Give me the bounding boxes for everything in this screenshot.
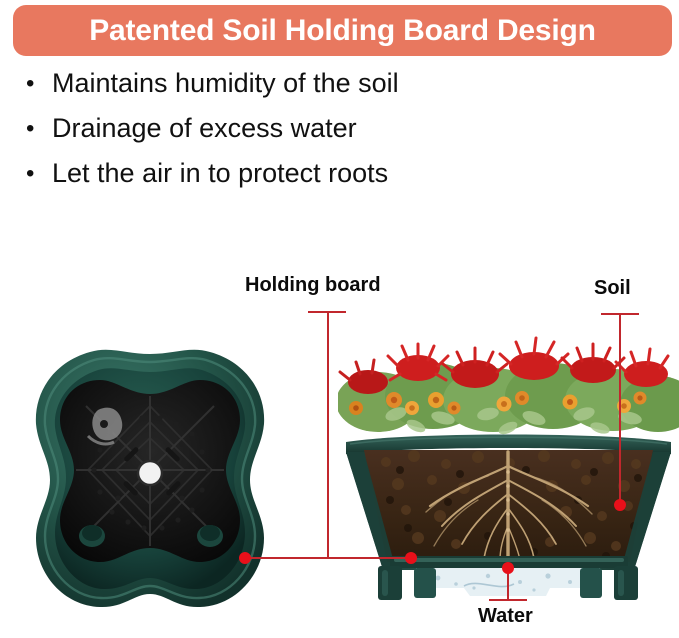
bullet-icon: • <box>26 162 40 186</box>
board-post-left-inner <box>82 525 102 541</box>
leader-holding-board-stem <box>327 311 329 558</box>
infographic-page: Patented Soil Holding Board Design • Mai… <box>0 0 679 638</box>
bullet-icon: • <box>26 117 40 141</box>
board-post-right-inner <box>200 525 220 541</box>
bullet-icon: • <box>26 72 40 96</box>
pot-foot-outer-left <box>378 566 402 600</box>
pot-foot-outer-right-highlight <box>618 570 624 596</box>
list-item: • Drainage of excess water <box>26 115 646 160</box>
leader-water-tbar <box>489 599 527 601</box>
list-item-label: Drainage of excess water <box>52 115 357 142</box>
header-banner: Patented Soil Holding Board Design <box>13 5 672 56</box>
leader-dot-soil <box>614 499 626 511</box>
callout-label-water: Water <box>478 605 533 628</box>
leader-dot-holding-board-left <box>239 552 251 564</box>
callout-label-soil: Soil <box>594 277 631 300</box>
flower-canopy <box>338 338 679 437</box>
list-item: • Maintains humidity of the soil <box>26 70 646 115</box>
pot-foot-inner-left <box>414 568 436 598</box>
holding-board-image <box>14 348 286 613</box>
leader-holding-board-branch <box>245 557 411 559</box>
soil-layer <box>358 446 658 570</box>
leader-soil-stem <box>619 313 621 505</box>
pot-foot-outer-left-highlight <box>382 570 388 596</box>
pot-foot-outer-right <box>614 566 638 600</box>
feature-list: • Maintains humidity of the soil • Drain… <box>26 70 646 205</box>
callout-label-holding-board: Holding board <box>245 274 381 297</box>
list-item: • Let the air in to protect roots <box>26 160 646 205</box>
leader-dot-water <box>502 562 514 574</box>
leader-dot-holding-board-right <box>405 552 417 564</box>
pot-foot-inner-right <box>580 568 602 598</box>
list-item-label: Maintains humidity of the soil <box>52 70 399 97</box>
page-title: Patented Soil Holding Board Design <box>89 14 596 48</box>
list-item-label: Let the air in to protect roots <box>52 160 388 187</box>
